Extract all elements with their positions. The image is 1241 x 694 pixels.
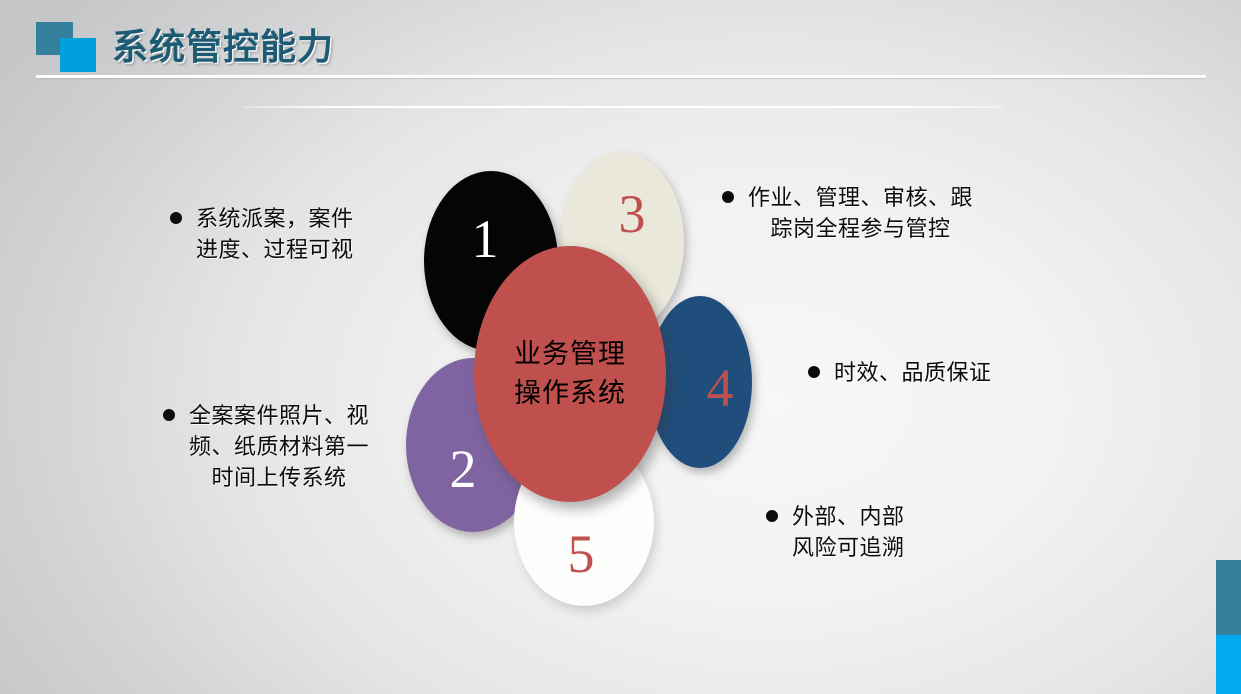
bullet-item-1: 系统派案，案件 进度、过程可视 <box>170 203 420 265</box>
center-ellipse[interactable]: 业务管理 操作系统 <box>474 246 666 502</box>
slide-canvas: 系统管控能力 3 1 4 2 5 业务管理 操作系统 系统派案，案件 进度、过程… <box>0 0 1241 694</box>
bullet-dot-icon <box>722 191 734 203</box>
center-label-line1: 业务管理 <box>514 335 626 374</box>
bullet-item-2: 全案案件照片、视 频、纸质材料第一 时间上传系统 <box>163 400 428 494</box>
bullet-item-5: 外部、内部 风险可追溯 <box>766 501 986 563</box>
bullet-dot-icon <box>163 409 175 421</box>
secondary-divider <box>243 106 1003 108</box>
title-divider <box>36 75 1206 78</box>
bullet-text-4: 时效、品质保证 <box>834 357 992 388</box>
edge-block-blue <box>1216 635 1241 694</box>
petal-4-number: 4 <box>707 361 734 415</box>
bullet-text-1: 系统派案，案件 进度、过程可视 <box>196 203 354 265</box>
petal-3-number: 3 <box>619 187 646 241</box>
bullet-text-5: 外部、内部 风险可追溯 <box>792 501 905 563</box>
page-title: 系统管控能力 <box>112 18 334 70</box>
bullet-dot-icon <box>766 510 778 522</box>
bullet-text-3: 作业、管理、审核、跟 踪岗全程参与管控 <box>748 182 973 244</box>
petal-5-number: 5 <box>568 527 595 581</box>
petal-1-number: 1 <box>472 212 499 266</box>
petal-2-number: 2 <box>450 442 477 496</box>
bullet-dot-icon <box>170 212 182 224</box>
header-square-blue-icon <box>60 38 96 72</box>
bullet-item-3: 作业、管理、审核、跟 踪岗全程参与管控 <box>722 182 1042 244</box>
edge-block-teal <box>1216 560 1241 635</box>
center-label-line2: 操作系统 <box>514 374 626 413</box>
bullet-dot-icon <box>808 366 820 378</box>
bullet-text-2: 全案案件照片、视 频、纸质材料第一 时间上传系统 <box>189 400 369 494</box>
bullet-item-4: 时效、品质保证 <box>808 357 1043 388</box>
